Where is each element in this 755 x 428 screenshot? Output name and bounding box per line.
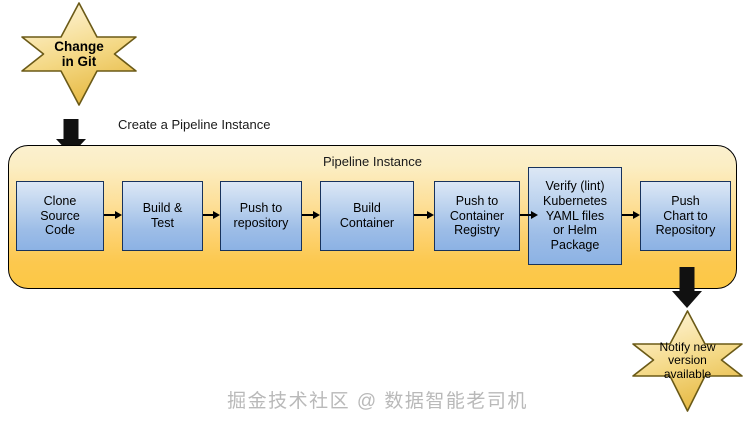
end-star-node: Notify new version available — [631, 309, 744, 413]
diagram-canvas: Change in Git Create a Pipeline Instance… — [0, 0, 755, 428]
stage-push-to-repository[interactable]: Push to repository — [220, 181, 302, 251]
create-pipeline-instance-label: Create a Pipeline Instance — [118, 117, 270, 132]
connector-6 — [622, 211, 640, 220]
stage-push-to-container-registry[interactable]: Push to Container Registry — [434, 181, 520, 251]
connector-1 — [104, 211, 122, 220]
connector-5 — [520, 211, 538, 220]
stage-clone-source-code[interactable]: Clone Source Code — [16, 181, 104, 251]
stage-build-and-test[interactable]: Build & Test — [122, 181, 203, 251]
connector-3 — [302, 211, 320, 220]
connector-4 — [414, 211, 434, 220]
arrow-pipeline-to-notify — [672, 267, 702, 309]
stage-build-container[interactable]: Build Container — [320, 181, 414, 251]
start-star-node: Change in Git — [20, 1, 138, 107]
stage-push-chart-to-repository[interactable]: Push Chart to Repository — [640, 181, 731, 251]
six-point-star-icon — [631, 309, 744, 413]
stage-verify-lint-kubernetes[interactable]: Verify (lint) Kubernetes YAML files or H… — [528, 167, 622, 265]
pipeline-instance-title: Pipeline Instance — [9, 154, 736, 169]
connector-2 — [203, 211, 220, 220]
six-point-star-icon — [20, 1, 138, 107]
